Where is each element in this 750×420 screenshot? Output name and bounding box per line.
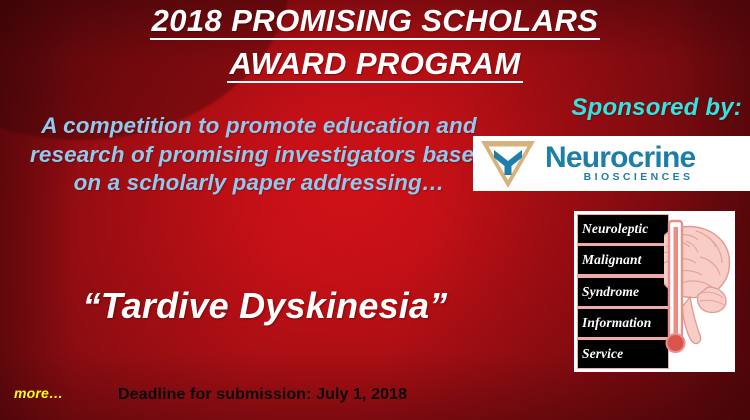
sponsor-logo: Neurocrine BIOSCIENCES [473, 136, 750, 191]
nms-bar: Information [578, 309, 668, 337]
nms-bar-stack: Neuroleptic Malignant Syndrome Informati… [577, 214, 669, 369]
sponsor-logo-tagline: BIOSCIENCES [545, 171, 695, 184]
sponsored-by-label: Sponsored by: [571, 94, 742, 122]
nms-bar-label: Syndrome [578, 284, 639, 300]
nms-bar: Neuroleptic [578, 215, 668, 243]
nms-bar-label: Neuroleptic [578, 221, 648, 237]
nms-bar: Service [578, 340, 668, 368]
submission-deadline: Deadline for submission: July 1, 2018 [118, 386, 407, 404]
more-link[interactable]: more… [14, 385, 63, 401]
sponsor-logo-wordmark: Neurocrine BIOSCIENCES [545, 144, 695, 184]
page-title-line-1: 2018 PROMISING SCHOLARS [150, 6, 601, 40]
nms-bar: Malignant [578, 246, 668, 274]
program-description: A competition to promote education and r… [14, 112, 504, 198]
page-title-line-2: AWARD PROGRAM [227, 49, 522, 83]
nms-bar: Syndrome [578, 278, 668, 306]
nms-bar-label: Service [578, 346, 623, 362]
neurocrine-chevron-icon [479, 137, 537, 190]
sponsor-logo-name: Neurocrine [545, 144, 695, 171]
nms-information-service-logo: Neuroleptic Malignant Syndrome Informati… [574, 211, 735, 372]
paper-topic-headline: “Tardive Dyskinesia” [10, 285, 520, 327]
award-program-slide: 2018 PROMISING SCHOLARS AWARD PROGRAM A … [0, 0, 750, 420]
brain-thermometer-icon [664, 211, 735, 372]
nms-bar-label: Malignant [578, 252, 641, 268]
nms-bar-label: Information [578, 315, 651, 331]
page-title: 2018 PROMISING SCHOLARS AWARD PROGRAM [0, 6, 750, 83]
